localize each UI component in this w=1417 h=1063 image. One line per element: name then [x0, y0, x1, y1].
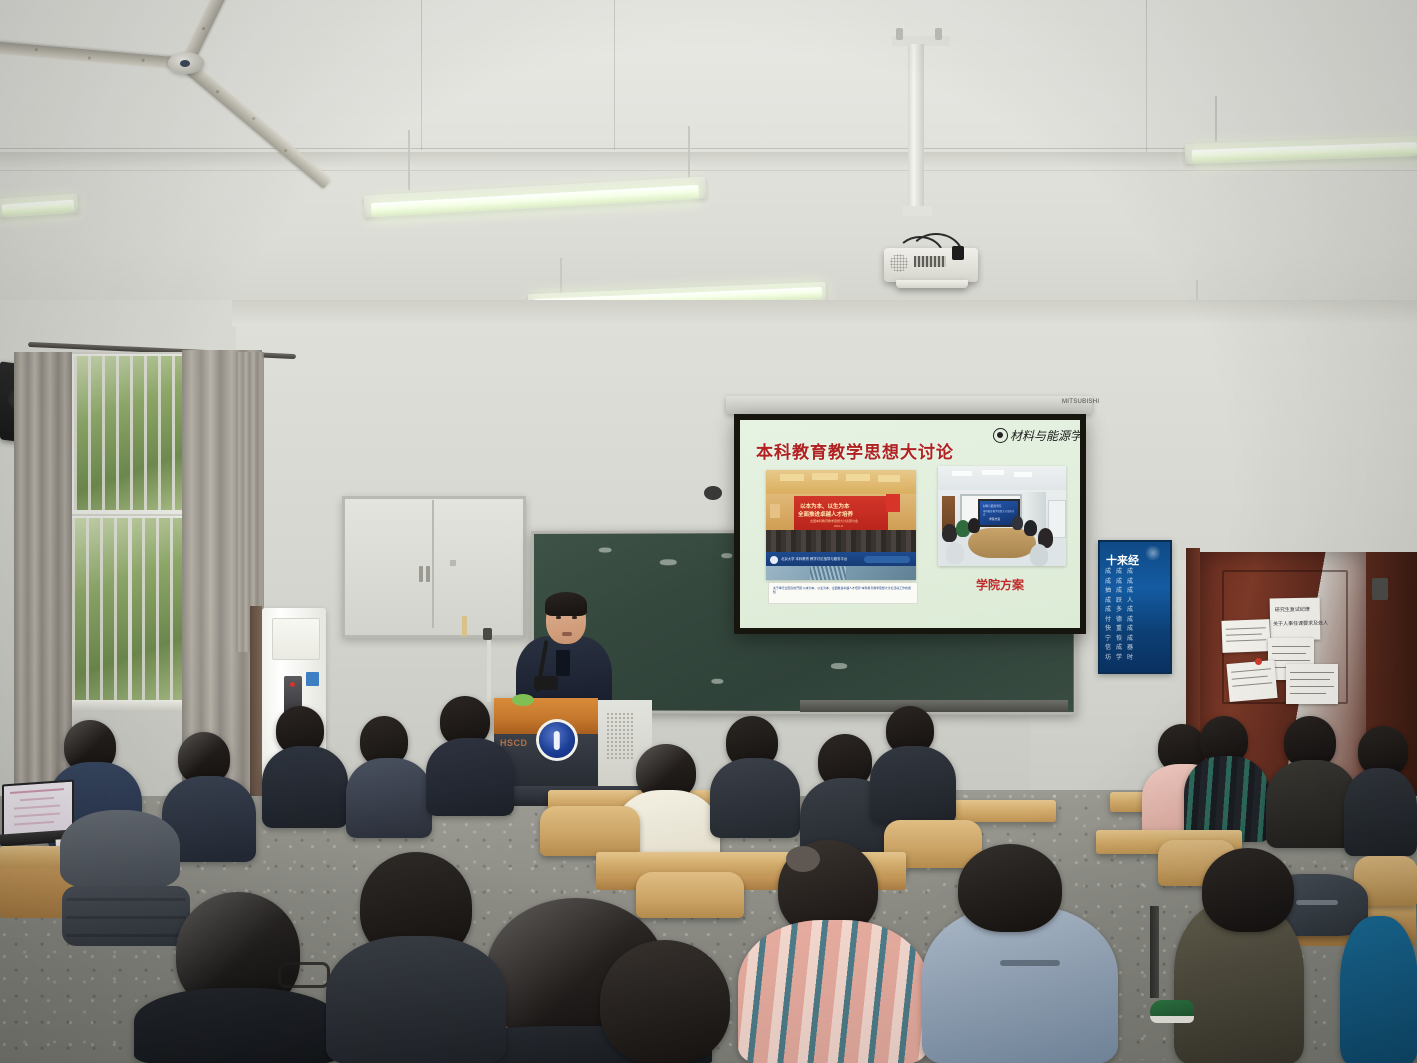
banner-subtitle: 全国本科教育教学思想大讨论研讨会 — [810, 519, 858, 523]
door-notice-line-2: 关于人事任课要求及处人 — [1273, 619, 1328, 627]
chalk-smudge — [660, 559, 677, 565]
window-mullion — [128, 518, 132, 702]
slide-logo-mark — [993, 428, 1008, 443]
desk-leg — [1150, 906, 1159, 998]
chalk-smudge — [599, 548, 612, 553]
projector-mount-bolt — [896, 28, 903, 40]
window-sill — [66, 700, 198, 710]
slide-left-caption: 关于举行全国高校开展“以本为本、以生为本、全面推进卓越人才培养”本科教育教学思想… — [773, 586, 913, 595]
window-security-bars — [74, 356, 190, 510]
podium-emblem — [539, 722, 575, 758]
door-notice-line-1: 研究生复试纪律 — [1275, 606, 1310, 614]
projector-bracket — [902, 206, 932, 216]
puffer-jacket — [60, 810, 180, 888]
projector-connector — [952, 246, 964, 260]
window-security-bars — [72, 518, 192, 702]
ceiling-seam — [0, 170, 1417, 171]
light-hanger-rod — [688, 126, 690, 180]
photo-audience — [766, 530, 916, 554]
photo2-ceiling-light — [952, 471, 972, 476]
ceiling-seam — [421, 0, 422, 150]
sneaker-sole — [1150, 1016, 1194, 1023]
student-body — [262, 746, 348, 828]
website-search-box — [864, 556, 910, 563]
window-lower — [68, 514, 198, 708]
student-body — [426, 738, 514, 816]
poster-character-grid: 成成成成成成抽成成成跃人成多成付德成快重成宁恢成信成器坊学时 — [1105, 568, 1165, 663]
student-body — [710, 758, 800, 838]
slide-right-photo: 材料与能源学院 本科教育教学思想大讨论研讨会 学院方案 — [938, 466, 1066, 566]
backpack-label — [1296, 900, 1338, 905]
slide-title: 本科教育教学思想大讨论 — [756, 438, 954, 463]
photo-ceiling-panel — [812, 473, 838, 480]
light-hanger-rod — [560, 258, 562, 296]
photo2-attendee — [1012, 516, 1023, 530]
projection-screen: 本科教育教学思想大讨论 材料与能源学院 以本为本、以生为本 全面推进卓越人才培养… — [734, 414, 1086, 634]
banner-line-1: 以本为本、以生为本 — [800, 502, 850, 510]
photo2-attendee — [968, 518, 980, 533]
wall-cabinet — [342, 496, 526, 638]
chalk-smudge — [831, 663, 847, 669]
photo-ceiling-panel — [846, 474, 870, 481]
photo-podium — [770, 504, 780, 518]
cabinet-handle — [419, 566, 423, 582]
slide-logo-dot — [997, 432, 1003, 438]
door-notice: 研究生复试纪律 关于人事任课要求及处人 — [1270, 598, 1321, 641]
cabinet-lock — [483, 628, 492, 640]
slide-content: 本科教育教学思想大讨论 材料与能源学院 以本为本、以生为本 全面推进卓越人才培养… — [740, 420, 1080, 628]
presenter-eye — [556, 616, 561, 619]
ac-power-light — [290, 682, 295, 687]
podium-plant — [512, 694, 534, 706]
door-latch — [1372, 578, 1388, 600]
photo2-attendee — [946, 542, 964, 564]
light-hanger-rod — [408, 130, 410, 190]
microphone-base — [534, 676, 558, 690]
slide-left-caption-box: 关于举行全国高校开展“以本为本、以生为本、全面推进卓越人才培养”本科教育教学思想… — [768, 582, 918, 604]
door-notice — [1286, 664, 1338, 704]
photo2-ceiling-light — [982, 470, 1004, 475]
poster-emblem — [1144, 546, 1162, 560]
photo-side-banner — [886, 494, 900, 512]
photo2-tv-line2: 本科教育教学思想大讨论研讨会 — [983, 510, 1015, 516]
photo-ceiling-panel — [878, 475, 900, 482]
photo2-tv-line3: 学院方案 — [989, 517, 1000, 521]
ceiling-seam — [1146, 0, 1147, 152]
student-body-foreground-blue — [1340, 916, 1417, 1063]
window-upper — [70, 352, 196, 516]
chair-back — [636, 872, 744, 918]
ceiling-fan-center — [180, 60, 190, 67]
presenter-shirt-placket — [556, 650, 570, 676]
chalk-smudge — [721, 553, 732, 558]
slide-left-photo: 以本为本、以生为本 全面推进卓越人才培养 全国本科教育教学思想大讨论研讨会 20… — [766, 470, 916, 580]
banner-line-2: 全面推进卓越人才培养 — [798, 510, 853, 518]
projector-vent — [890, 254, 908, 272]
chalk-tray — [800, 700, 1068, 712]
poster-title: 十来经 — [1106, 552, 1139, 568]
photo2-ceiling-light — [1014, 472, 1032, 477]
student-body-foreground — [326, 936, 506, 1063]
website-bar-text: 北京大学 本科教育 教学讨论指导与服务平台 — [781, 556, 847, 561]
light-hanger-rod — [1215, 96, 1217, 142]
photo2-attendee — [1024, 520, 1037, 536]
cabinet-handle — [426, 566, 430, 582]
classroom-photo-scene: MITSUBISHI 本科教育教学思想大讨论 材料与能源学院 以本为本、以生为本… — [0, 0, 1417, 1063]
presenter-eye — [572, 616, 577, 619]
chalk-smudge — [711, 679, 723, 684]
surveillance-camera — [704, 486, 722, 500]
wall-cornice — [232, 300, 1417, 326]
ceiling-seam — [614, 0, 615, 150]
cabinet-mark — [450, 560, 456, 566]
denim-seam — [1000, 960, 1060, 966]
presenter-hair — [545, 592, 587, 616]
photo-ceiling-panel — [780, 474, 804, 481]
photo-red-banner: 以本为本、以生为本 全面推进卓越人才培养 全国本科教育教学思想大讨论研讨会 20… — [794, 496, 888, 532]
student-body — [1344, 768, 1417, 856]
student-body-foreground — [134, 988, 340, 1063]
student-head-foreground — [1202, 848, 1294, 932]
door-notice — [1226, 660, 1277, 702]
hair-bun — [786, 846, 820, 872]
projector-mount-bolt — [935, 28, 942, 40]
student-body-foreground — [738, 920, 928, 1063]
ac-label — [306, 672, 319, 686]
podium-speaker-vent — [606, 712, 634, 760]
wall-pipe — [250, 606, 262, 828]
wall-conduit — [487, 640, 491, 702]
banner-date: 2023.11 — [834, 525, 843, 528]
door-notice — [1221, 619, 1270, 653]
photo-website-bar: 北京大学 本科教育 教学讨论指导与服务平台 — [766, 552, 916, 567]
slide-right-caption: 学院方案 — [976, 576, 1024, 593]
student-head-foreground — [600, 940, 730, 1063]
emblem-figure — [554, 731, 560, 750]
door-pin — [1255, 658, 1262, 665]
photo2-tv-line1: 材料与能源学院 — [983, 504, 1001, 508]
student-body — [346, 758, 432, 838]
photo2-attendee — [942, 524, 957, 542]
ac-grille — [272, 618, 320, 660]
projector-pole — [908, 44, 924, 214]
podium-brand: HSCD — [500, 738, 528, 748]
projector-ports — [914, 256, 946, 267]
website-logo — [770, 556, 778, 564]
slide-org-logo-text: 材料与能源学院 — [1010, 427, 1080, 444]
wall-poster: 十来经 成成成成成成抽成成成跃人成多成付德成快重成宁恢成信成器坊学时 — [1098, 540, 1172, 674]
chair-back — [540, 806, 640, 856]
screen-brand-label: MITSUBISHI — [1062, 399, 1098, 409]
photo2-attendee — [1030, 544, 1048, 566]
cabinet-door-seam — [432, 500, 434, 628]
projection-screen-housing — [726, 396, 1092, 414]
student-head-foreground — [958, 844, 1062, 932]
student-body — [870, 746, 956, 824]
cabinet-chalk — [462, 616, 467, 636]
projector-lens-housing — [896, 280, 968, 288]
eyeglasses — [278, 962, 330, 988]
presenter-mouth — [562, 632, 572, 636]
